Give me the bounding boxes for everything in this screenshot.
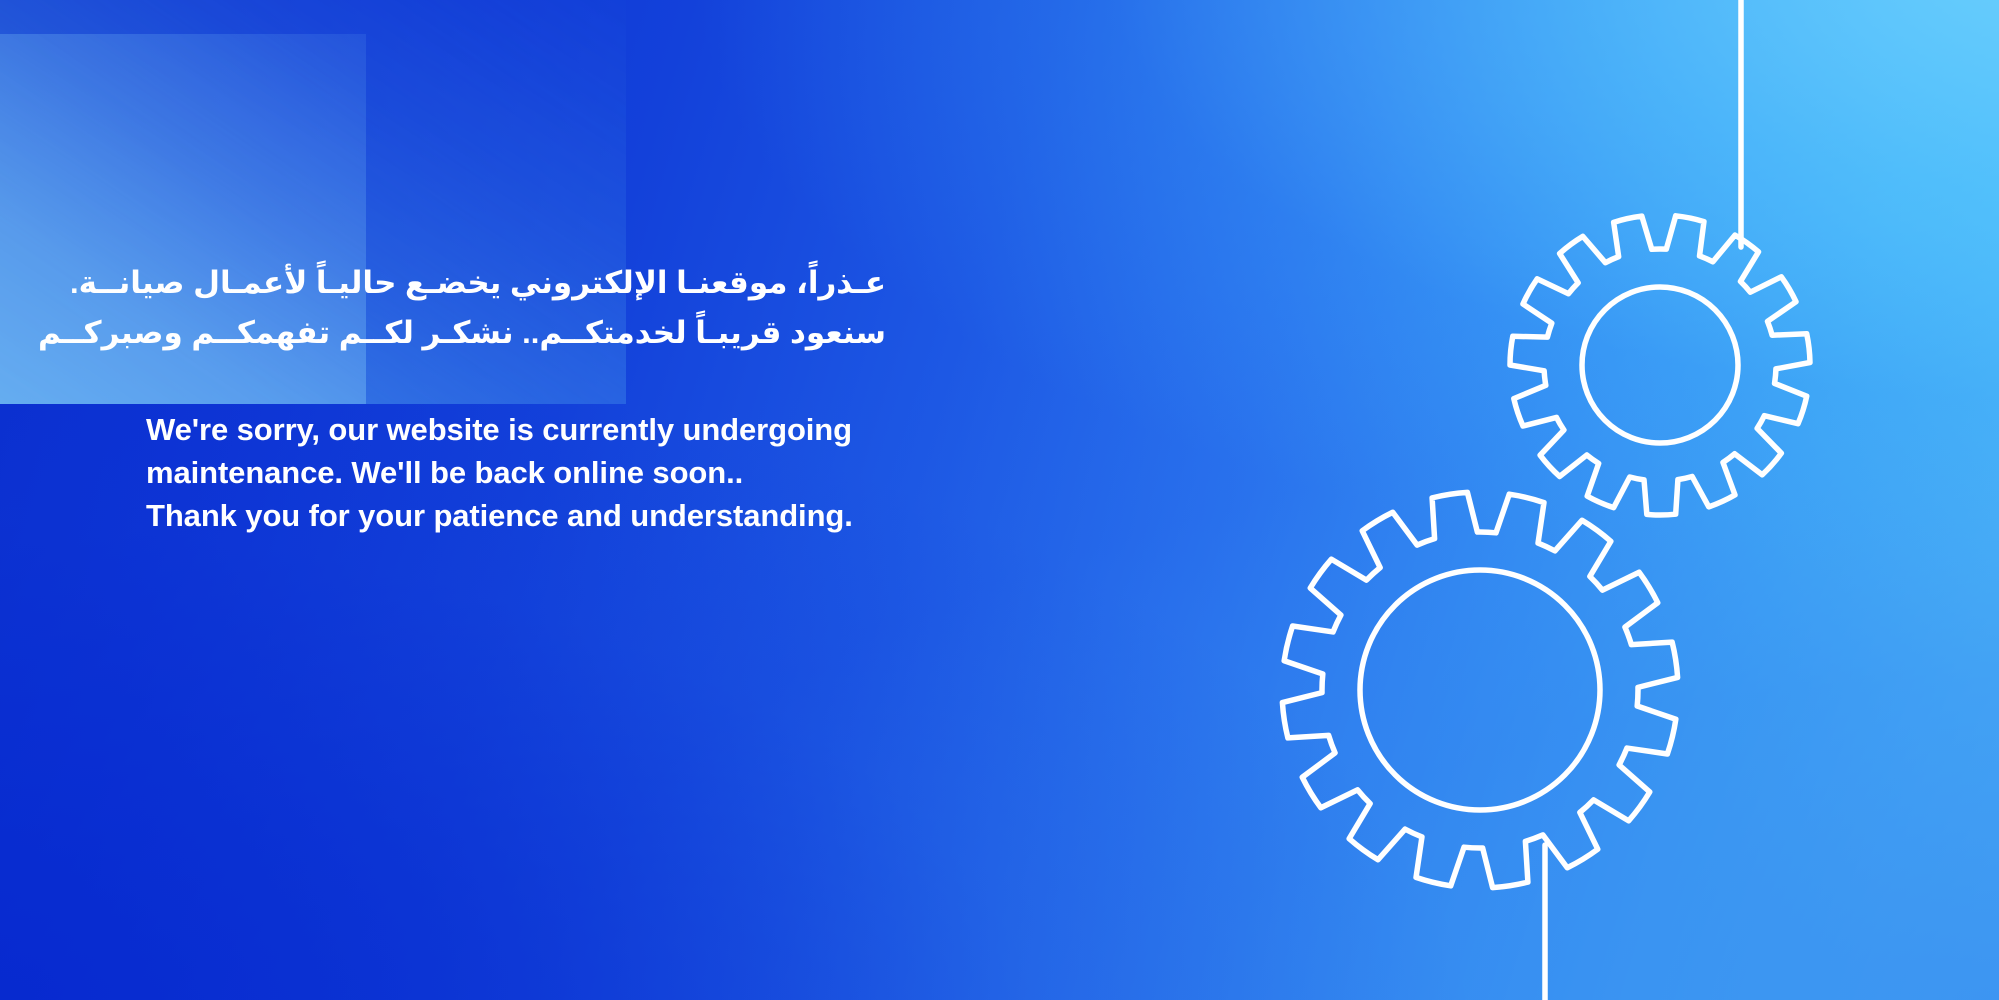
maintenance-message: عـذراً، موقعنـا الإلكتروني يخضـع حاليـاً… (146, 258, 1046, 537)
message-spacer (146, 358, 1046, 408)
english-line-2: maintenance. We'll be back online soon.. (146, 451, 926, 494)
english-line-1: We're sorry, our website is currently un… (146, 408, 926, 451)
english-line-3: Thank you for your patience and understa… (146, 494, 926, 537)
arabic-message: عـذراً، موقعنـا الإلكتروني يخضـع حاليـاً… (146, 258, 886, 358)
maintenance-page: عـذراً، موقعنـا الإلكتروني يخضـع حاليـاً… (0, 0, 1999, 1000)
arabic-line-1: عـذراً، موقعنـا الإلكتروني يخضـع حاليـاً… (146, 258, 886, 308)
arabic-line-2: سنعود قريبـاً لخدمتكــم.. نشكـر لكــم تف… (146, 308, 886, 358)
english-message: We're sorry, our website is currently un… (146, 408, 926, 537)
